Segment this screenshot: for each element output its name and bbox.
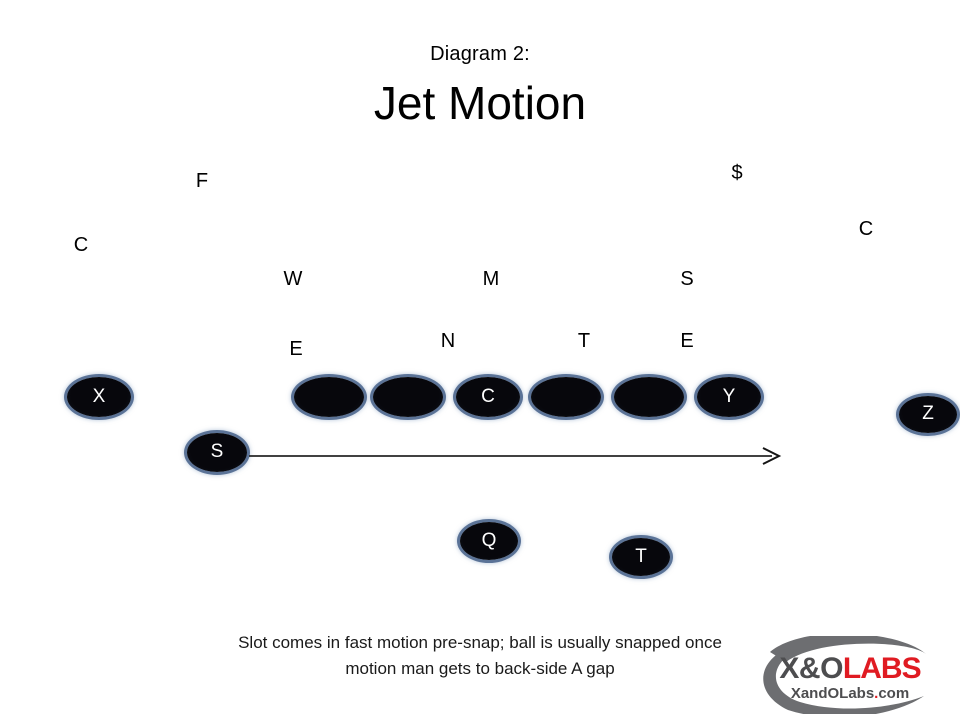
logo-brand-first: X&O <box>779 652 843 685</box>
player-lineman-left-tackle[interactable] <box>294 377 364 417</box>
label-nose-tackle: N <box>433 331 463 351</box>
logo-brand-second: LABS <box>843 652 921 685</box>
motion-arrowhead-icon <box>763 448 779 464</box>
player-label-q: Q <box>482 531 497 550</box>
label-will-linebacker: W <box>278 269 308 289</box>
label-def-tackle: T <box>569 331 599 351</box>
player-runningback-t[interactable]: T <box>612 538 670 576</box>
xandolabs-logo[interactable]: X&OLABS XandOLabs.com <box>748 636 948 714</box>
logo-wordmark: X&OLABS <box>754 654 946 684</box>
player-receiver-z[interactable]: Z <box>899 396 957 433</box>
diagram-subtitle: Diagram 2: <box>0 42 960 66</box>
label-def-end-right: E <box>672 331 702 351</box>
page-title: Jet Motion <box>0 76 960 130</box>
player-lineman-right-guard[interactable] <box>531 377 601 417</box>
player-slot-s[interactable]: S <box>187 433 247 472</box>
player-label-x: X <box>93 387 106 406</box>
slide-canvas: Diagram 2: Jet Motion F $ C C W M S E N … <box>0 0 960 720</box>
player-label-t: T <box>635 547 647 566</box>
logo-domain: XandOLabs.com <box>754 686 946 702</box>
logo-domain-prefix: XandOLabs <box>791 685 874 702</box>
logo-domain-suffix: com <box>878 685 909 702</box>
label-def-end-left: E <box>281 339 311 359</box>
player-lineman-left-guard[interactable] <box>373 377 443 417</box>
player-label-center: C <box>481 387 495 406</box>
label-free-safety: F <box>187 171 217 191</box>
player-label-slot-s: S <box>211 442 224 461</box>
label-strong-safety-dollar: $ <box>722 163 752 183</box>
player-center[interactable]: C <box>456 377 520 417</box>
player-label-y: Y <box>723 387 736 406</box>
label-sam-linebacker: S <box>672 269 702 289</box>
player-receiver-x[interactable]: X <box>67 377 131 417</box>
player-lineman-right-tackle[interactable] <box>614 377 684 417</box>
label-cornerback-right: C <box>851 219 881 239</box>
label-mike-linebacker: M <box>476 269 506 289</box>
player-tight-end-y[interactable]: Y <box>697 377 761 417</box>
label-cornerback-left: C <box>66 235 96 255</box>
player-label-z: Z <box>922 404 934 423</box>
player-quarterback-q[interactable]: Q <box>460 522 518 560</box>
